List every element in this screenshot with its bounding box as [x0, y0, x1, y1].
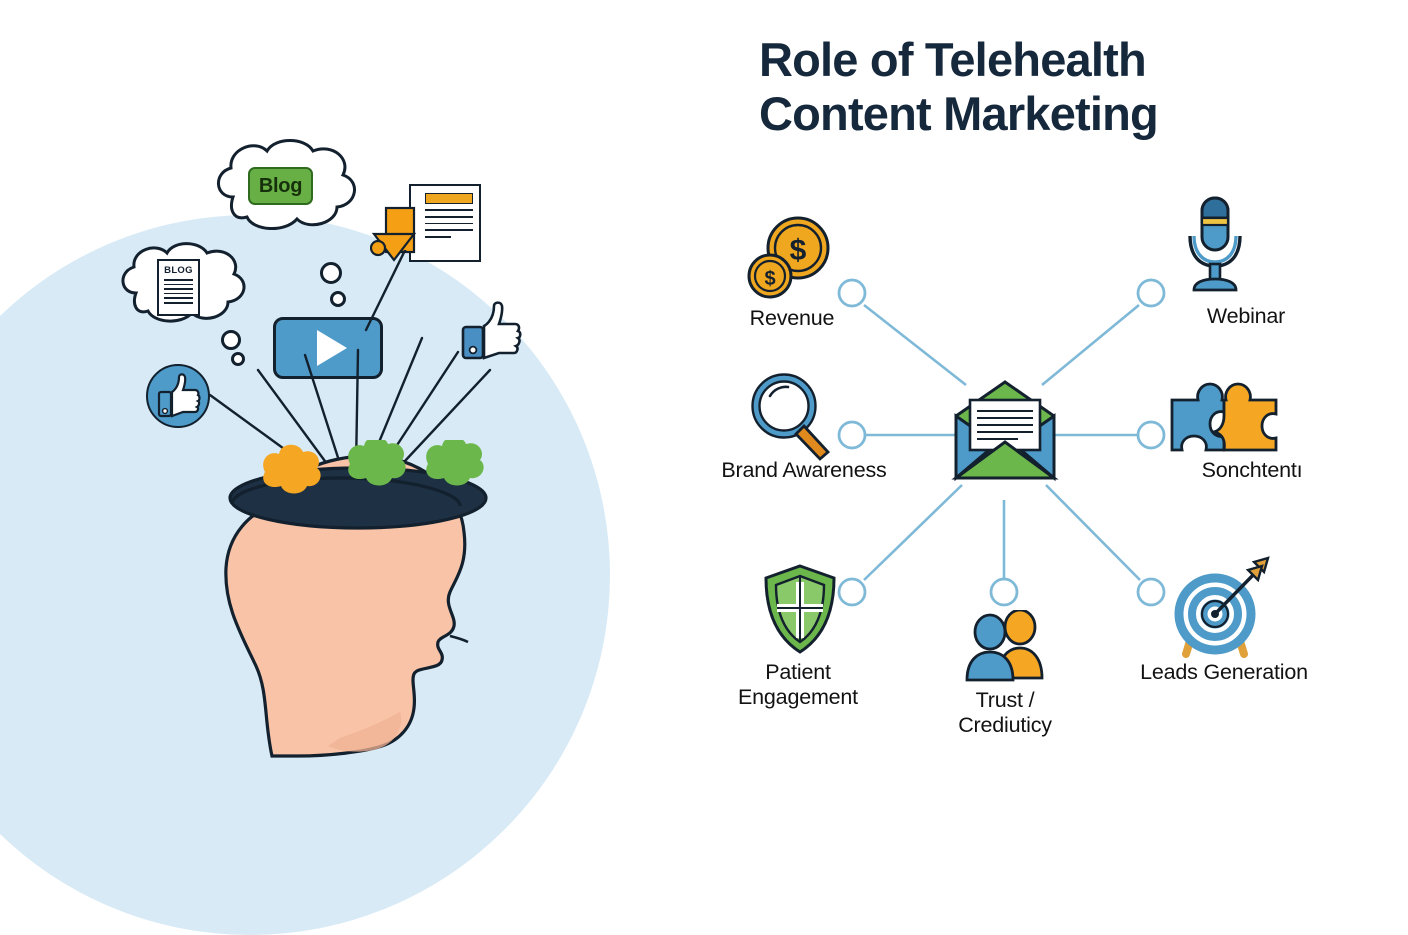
infographic-canvas: Blog BLOG: [0, 0, 1408, 768]
hub-spoke-diagram: $ $ Revenue Webinar: [704, 180, 1408, 768]
node-label-webinar: Webinar: [1166, 304, 1326, 329]
right-content-panel: Role of Telehealth Content Marketing: [704, 0, 1408, 768]
blog-chip-label: Blog: [248, 167, 313, 205]
shield-cross-icon: [760, 562, 840, 656]
dollar-coins-icon: $ $: [744, 214, 834, 302]
magnifying-glass-icon: [744, 372, 844, 464]
target-arrow-icon: [1166, 556, 1278, 660]
svg-text:$: $: [790, 234, 807, 267]
svg-text:$: $: [764, 268, 775, 290]
microphone-icon: [1176, 194, 1254, 296]
left-illustration-panel: Blog BLOG: [0, 0, 704, 768]
node-label-patient-engagement: Patient Engagement: [708, 660, 888, 710]
open-envelope-icon: [950, 380, 1060, 485]
head-profile-icon: [168, 440, 538, 770]
node-label-trust-credibility: Trust / Crediuticy: [920, 688, 1090, 738]
page-title-line-2: Content Marketing: [759, 87, 1359, 141]
two-people-icon: [962, 610, 1048, 684]
page-title-line-1: Role of Telehealth: [759, 33, 1359, 87]
node-label-brand-awareness: Brand Awareness: [704, 458, 904, 483]
page-title: Role of Telehealth Content Marketing: [759, 33, 1359, 140]
puzzle-pieces-icon: [1166, 376, 1288, 460]
node-label-leads-generation: Leads Generation: [1104, 660, 1344, 685]
node-label-content: Sonchtentı: [1152, 458, 1352, 483]
node-label-revenue: Revenue: [722, 306, 862, 331]
